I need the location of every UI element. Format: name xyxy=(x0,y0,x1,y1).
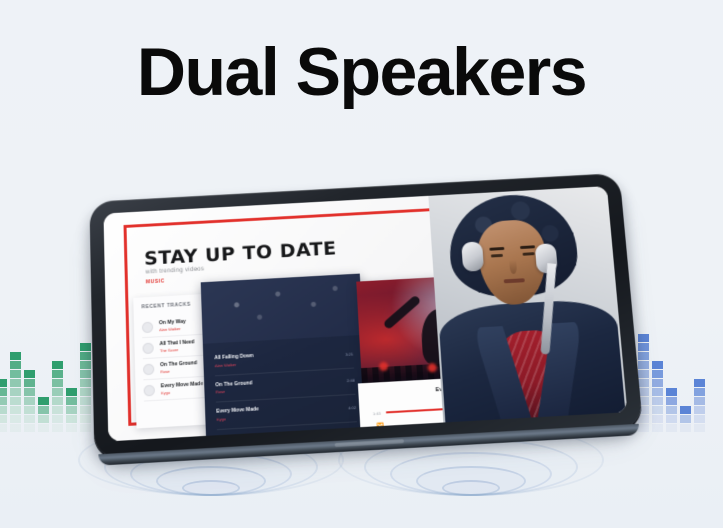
equalizer-segment xyxy=(80,379,91,387)
equalizer-segment xyxy=(80,361,91,369)
eyebrow-right xyxy=(519,245,534,248)
equalizer-segment xyxy=(694,379,705,387)
previous-icon[interactable]: ⏮ xyxy=(445,419,451,425)
track-name: Every Move Made xyxy=(160,381,203,389)
track-artist: Kygo xyxy=(216,414,259,421)
table-row[interactable]: On The Ground Rose 2:48 xyxy=(215,368,355,403)
track-thumb-icon xyxy=(142,363,153,375)
seek-handle[interactable] xyxy=(446,406,451,411)
list-item[interactable]: Every Move Made Kygo xyxy=(143,374,257,402)
equalizer-segment xyxy=(52,361,63,369)
equalizer-segment xyxy=(24,379,35,387)
tablet-bezel: STAY UP TO DATE with trending videos MUS… xyxy=(89,173,643,459)
equalizer-segment xyxy=(666,388,677,396)
patterned-sweater xyxy=(496,329,567,419)
tablet-device: STAY UP TO DATE with trending videos MUS… xyxy=(89,173,643,459)
dual-speakers-banner: Dual Speakers STAY UP TO DATE with trend… xyxy=(0,0,723,528)
equalizer-segment xyxy=(652,370,663,378)
playlist-card-artwork xyxy=(200,274,363,344)
table-row[interactable]: Every Move Made Kygo 4:02 xyxy=(215,395,356,430)
track-artist: Alan Walker xyxy=(214,361,253,368)
equalizer-segment xyxy=(66,388,77,396)
screen-page: STAY UP TO DATE with trending videos MUS… xyxy=(103,186,627,441)
now-playing-title: Every Move Made xyxy=(371,381,549,397)
equalizer-segment xyxy=(80,343,91,351)
track-name: On The Ground xyxy=(215,380,252,388)
track-artist: Rose xyxy=(160,367,197,374)
jacket-collar-right xyxy=(537,322,581,417)
equalizer-segment xyxy=(638,361,649,369)
equalizer-segment xyxy=(80,352,91,360)
page-title: Dual Speakers xyxy=(0,38,723,106)
equalizer-segment xyxy=(80,388,91,396)
eye-right xyxy=(522,252,534,256)
table-row[interactable]: All Falling Down Alan Walker 3:21 xyxy=(214,341,354,375)
stage-light-icon xyxy=(427,363,437,373)
time-elapsed: 1:43 xyxy=(372,410,380,416)
player-controls: 🔀 ⏮ ▶ ⏭ ❤ xyxy=(373,413,552,431)
track-thumb-icon xyxy=(143,384,154,396)
playlist-card: All Falling Down Alan Walker 3:21 On The… xyxy=(200,274,368,442)
shuffle-icon[interactable]: 🔀 xyxy=(376,423,384,430)
nose xyxy=(509,260,517,274)
track-duration: 3:21 xyxy=(345,351,353,356)
track-artist: The Score xyxy=(159,346,194,353)
jacket-collar-left xyxy=(472,326,530,419)
dj-silhouette xyxy=(419,307,465,367)
now-playing-player: Every Move Made Kygo, Rose 1:43 4:02 🔀 xyxy=(357,372,565,438)
seek-bar[interactable]: 1:43 4:02 xyxy=(372,401,550,416)
seek-progress-fill xyxy=(385,408,449,414)
screen-page-kicker: MUSIC xyxy=(145,278,164,285)
equalizer-segment xyxy=(52,388,63,396)
equalizer-segment xyxy=(638,379,649,387)
tablet-screen: STAY UP TO DATE with trending videos MUS… xyxy=(103,186,627,441)
track-duration: 2:48 xyxy=(346,378,354,383)
eyebrow-left xyxy=(489,247,504,250)
equalizer-segment xyxy=(24,370,35,378)
seek-rail[interactable] xyxy=(385,403,537,414)
list-item[interactable]: On The Ground Rose xyxy=(142,353,255,380)
next-icon[interactable]: ⏭ xyxy=(475,418,481,424)
equalizer-segment xyxy=(52,370,63,378)
track-duration: 4:02 xyxy=(348,405,356,411)
equalizer-segment xyxy=(10,379,21,387)
now-playing-artist: Kygo, Rose xyxy=(371,388,549,403)
track-artist: Kygo xyxy=(160,388,203,395)
equalizer-segment xyxy=(10,388,21,396)
track-artist: Rose xyxy=(215,387,252,394)
denim-jacket xyxy=(437,298,625,422)
time-total: 4:02 xyxy=(542,401,550,407)
equalizer-segment xyxy=(638,370,649,378)
eye-left xyxy=(490,254,502,258)
equalizer-segment xyxy=(694,388,705,396)
track-name: All Falling Down xyxy=(214,353,253,361)
crowd-silhouette xyxy=(361,359,530,397)
track-name: Every Move Made xyxy=(216,406,259,414)
equalizer-segment xyxy=(652,379,663,387)
equalizer-segment xyxy=(638,352,649,360)
headphones-model-photo xyxy=(428,186,627,422)
equalizer-segment xyxy=(0,388,7,396)
equalizer-segment xyxy=(10,361,21,369)
equalizer-segment xyxy=(638,343,649,351)
heart-icon[interactable]: ❤ xyxy=(543,414,549,420)
headphone-cup-left xyxy=(461,241,484,271)
equalizer-segment xyxy=(0,379,7,387)
play-fab-button[interactable]: ▶ xyxy=(545,358,572,385)
equalizer-segment xyxy=(652,388,663,396)
equalizer-segment xyxy=(10,352,21,360)
mouth xyxy=(503,278,524,283)
equalizer-segment xyxy=(638,334,649,342)
equalizer-segment xyxy=(52,379,63,387)
track-name: On The Ground xyxy=(160,360,197,368)
stage-light-icon xyxy=(378,362,388,372)
equalizer-segment xyxy=(80,370,91,378)
play-icon[interactable]: ▶ xyxy=(460,418,467,427)
equalizer-segment xyxy=(652,361,663,369)
equalizer-segment xyxy=(10,370,21,378)
equalizer-segment xyxy=(24,388,35,396)
stage-light-icon xyxy=(481,354,491,364)
